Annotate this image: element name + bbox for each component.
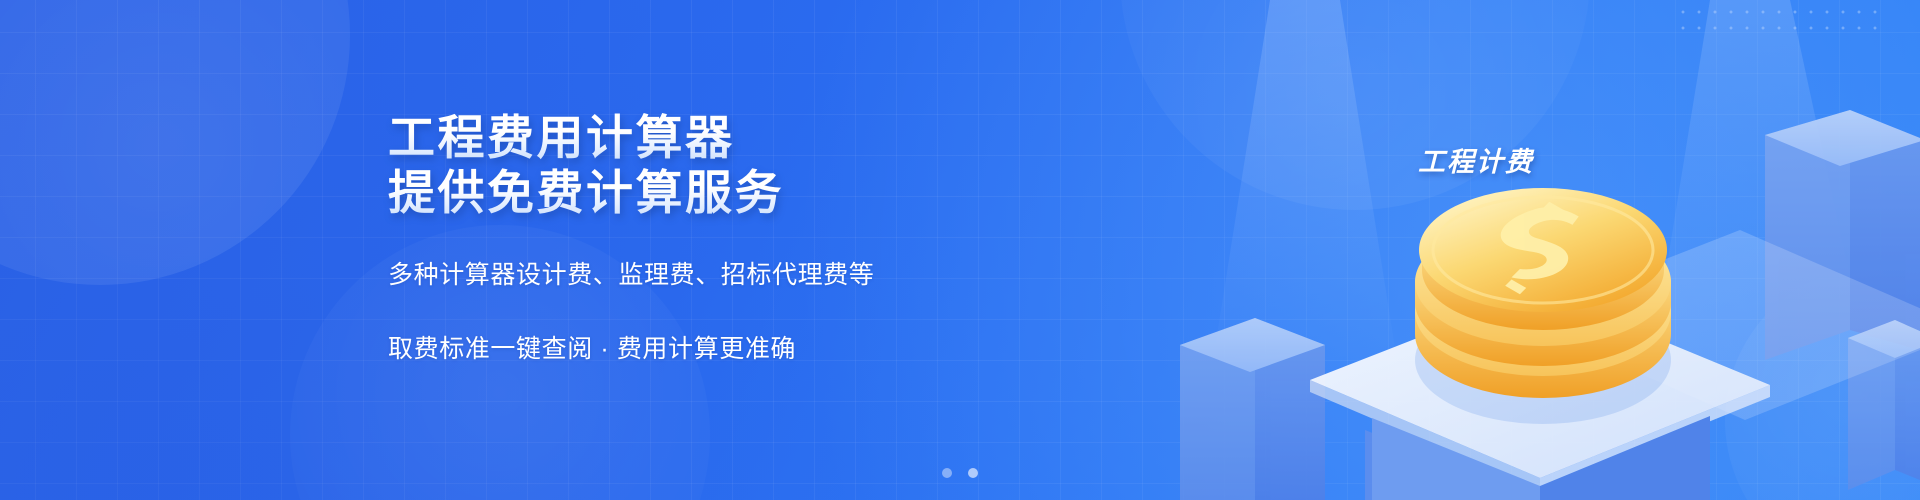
headline-line-1: 工程费用计算器 (388, 110, 1028, 165)
carousel-dot-2[interactable] (968, 468, 978, 478)
banner-copy: 工程费用计算器 提供免费计算服务 多种计算器设计费、监理费、招标代理费等 取费标… (388, 110, 1028, 370)
illustration-artwork (1150, 0, 1920, 500)
subtitle-line-2: 取费标准一键查阅 · 费用计算更准确 (388, 329, 1028, 370)
carousel-indicators[interactable] (0, 468, 1920, 478)
illustration-label: 工程计费 (1418, 140, 1534, 179)
gold-coin-stack (1415, 188, 1671, 424)
promo-banner: 工程费用计算器 提供免费计算服务 多种计算器设计费、监理费、招标代理费等 取费标… (0, 0, 1920, 500)
subtitle-line-1: 多种计算器设计费、监理费、招标代理费等 (388, 255, 1028, 296)
headline-line-2: 提供免费计算服务 (388, 165, 1028, 220)
carousel-dot-1[interactable] (942, 468, 952, 478)
isometric-illustration: 工程计费 (1150, 0, 1920, 500)
